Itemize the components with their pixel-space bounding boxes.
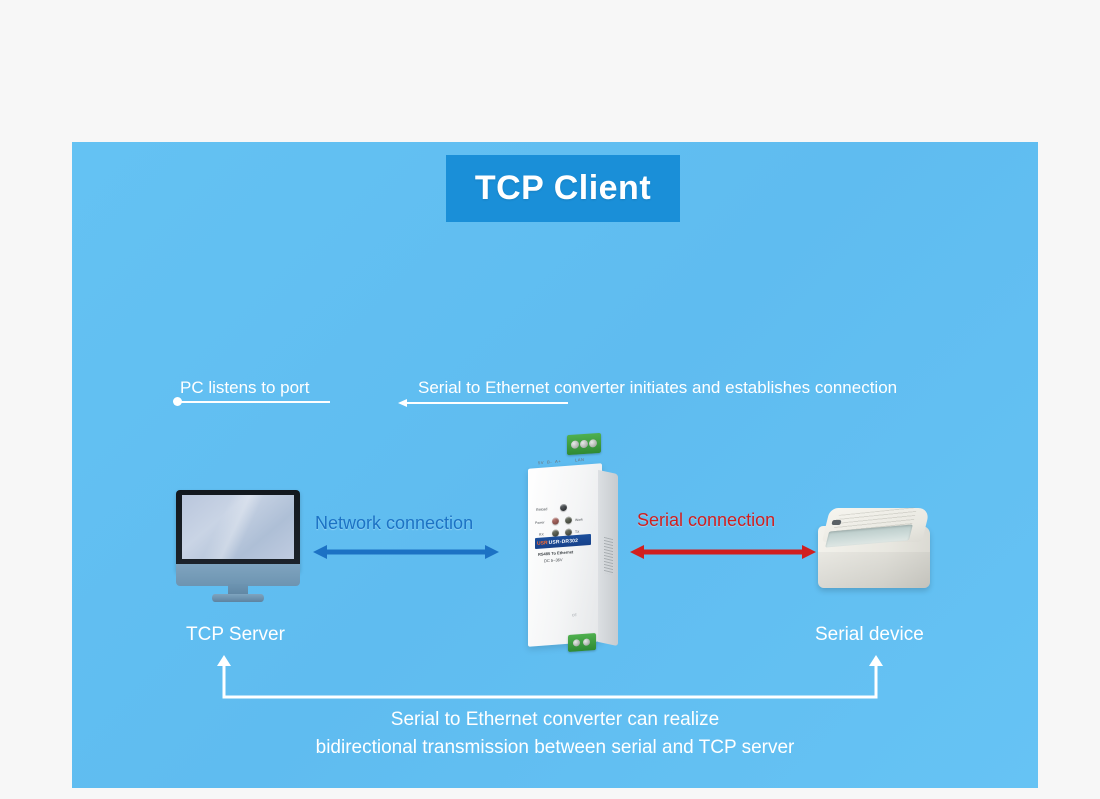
serial-to-ethernet-converter: 5V B- A+ LAN Reload Power Work RX TX USR…: [512, 428, 628, 668]
ce-mark: CE: [572, 613, 577, 617]
model-name: USR-DR302: [549, 537, 579, 545]
pc-listens-label: PC listens to port: [180, 378, 309, 398]
serial-connection-arrow: [630, 542, 816, 562]
terminal-screw: [589, 439, 597, 448]
bottom-caption: Serial to Ethernet converter can realize…: [72, 706, 1038, 762]
caption-line-2: bidirectional transmission between seria…: [72, 734, 1038, 762]
device-spec-line2: DC 5~36V: [544, 557, 563, 563]
network-connection-arrow: [313, 542, 499, 562]
terminal-screw: [571, 440, 579, 449]
tcp-server-monitor: [176, 490, 300, 600]
reload-label: Reload: [536, 507, 547, 512]
led-label-rx: RX: [539, 532, 544, 536]
reload-button[interactable]: [560, 504, 567, 512]
brand-logo: USR: [537, 540, 548, 547]
monitor-bezel: [176, 490, 300, 572]
led-power: [552, 517, 559, 525]
serial-device-printer: [812, 500, 942, 596]
printer-front-panel: [818, 552, 930, 588]
diagram-canvas: TCP Client PC listens to port Serial to …: [0, 0, 1100, 799]
bidirectional-bracket: [220, 655, 880, 705]
monitor-glare: [182, 495, 294, 559]
terminal-screw: [573, 639, 580, 646]
pc-listens-underline: [180, 401, 330, 403]
monitor-chin: [176, 564, 300, 586]
page-title: TCP Client: [475, 169, 651, 208]
reload-row: Reload: [536, 502, 592, 516]
printer-feed-button[interactable]: [831, 520, 841, 525]
led-work: [565, 516, 572, 524]
port-label-lan: LAN: [575, 457, 584, 463]
serial-connection-label: Serial connection: [637, 510, 775, 531]
device-spec-line1: RS485 To Ethernet: [538, 549, 573, 557]
led-label-work: Work: [575, 518, 583, 523]
tcp-server-label: TCP Server: [186, 624, 285, 646]
caption-line-1: Serial to Ethernet converter can realize: [72, 706, 1038, 734]
top-terminal-block: [567, 433, 601, 455]
converter-initiates-arrow: [398, 394, 568, 408]
network-connection-label: Network connection: [315, 513, 473, 534]
port-label-5v: 5V: [538, 460, 544, 465]
port-label-b: B-: [547, 459, 552, 464]
led-label-tx: TX: [575, 530, 579, 534]
terminal-screw: [583, 638, 590, 645]
device-barcode: [604, 537, 613, 575]
device-front-face: Reload Power Work RX TX USR USR-DR302 RS…: [534, 484, 592, 636]
serial-device-label: Serial device: [815, 624, 924, 646]
terminal-screw: [580, 440, 588, 449]
title-banner: TCP Client: [446, 155, 680, 222]
led-label-power: Power: [535, 520, 545, 525]
port-label-a: A+: [555, 459, 561, 464]
pc-listens-endpoint-dot: [173, 397, 182, 406]
bottom-terminal-block: [568, 633, 596, 652]
monitor-base: [212, 594, 264, 602]
